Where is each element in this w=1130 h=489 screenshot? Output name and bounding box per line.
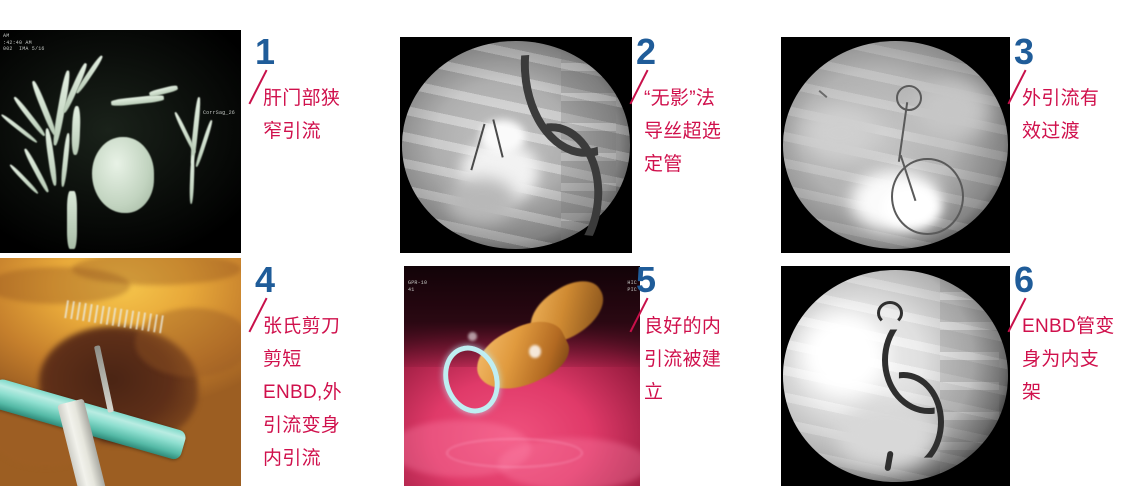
endoscopy-image-4	[0, 258, 241, 486]
caption-block-4: 4 张氏剪刀 剪短 ENBD,外 引流变身 内引流	[255, 262, 365, 298]
figure-1: AM :42:40 AM 002 IMA 5/16 CorrSag_26	[0, 30, 241, 253]
fluoroscopy-image-6	[781, 266, 1010, 486]
caption-block-1: 1 肝门部狭 窄引流	[255, 34, 360, 70]
figure-1-overlay-text: AM :42:40 AM 002 IMA 5/16	[3, 33, 45, 53]
panel-caption-5: 良好的内 引流被建 立	[644, 310, 721, 409]
panel-number-1: 1	[255, 34, 360, 70]
figure-3	[781, 37, 1010, 253]
caption-block-3: 3 外引流有 效过渡	[1014, 34, 1124, 70]
panel-number-5: 5	[636, 262, 746, 298]
panel-number-4: 4	[255, 262, 365, 298]
panel-caption-3: 外引流有 效过渡	[1022, 82, 1099, 148]
fluoroscopy-image-2	[400, 37, 632, 253]
figure-2	[400, 37, 632, 253]
figure-4	[0, 258, 241, 486]
caption-block-2: 2 “无影”法 导丝超选 定管	[636, 34, 744, 70]
mrcp-image: AM :42:40 AM 002 IMA 5/16 CorrSag_26	[0, 30, 241, 253]
panel-caption-1: 肝门部狭 窄引流	[263, 82, 340, 148]
panel-number-3: 3	[1014, 34, 1124, 70]
drainage-catheter-loop-3	[891, 158, 964, 235]
slide-canvas: AM :42:40 AM 002 IMA 5/16 CorrSag_26 1 肝…	[0, 0, 1130, 489]
fluoroscopy-image-3	[781, 37, 1010, 253]
panel-number-2: 2	[636, 34, 744, 70]
panel-caption-2: “无影”法 导丝超选 定管	[644, 82, 721, 181]
panel-caption-6: ENBD管变 身为内支 架	[1022, 310, 1115, 409]
caption-block-6: 6 ENBD管变 身为内支 架	[1014, 262, 1130, 298]
figure-5: GPR-10 41 HIC PIC	[404, 266, 640, 486]
endoscopy-image-5: GPR-10 41 HIC PIC	[404, 266, 640, 486]
caption-block-5: 5 良好的内 引流被建 立	[636, 262, 746, 298]
figure-6	[781, 266, 1010, 486]
panel-number-6: 6	[1014, 262, 1130, 298]
figure-1-corner-text: CorrSag_26	[203, 110, 235, 117]
panel-caption-4: 张氏剪刀 剪短 ENBD,外 引流变身 内引流	[263, 310, 342, 475]
figure-5-overlay-text: GPR-10 41	[408, 280, 427, 293]
